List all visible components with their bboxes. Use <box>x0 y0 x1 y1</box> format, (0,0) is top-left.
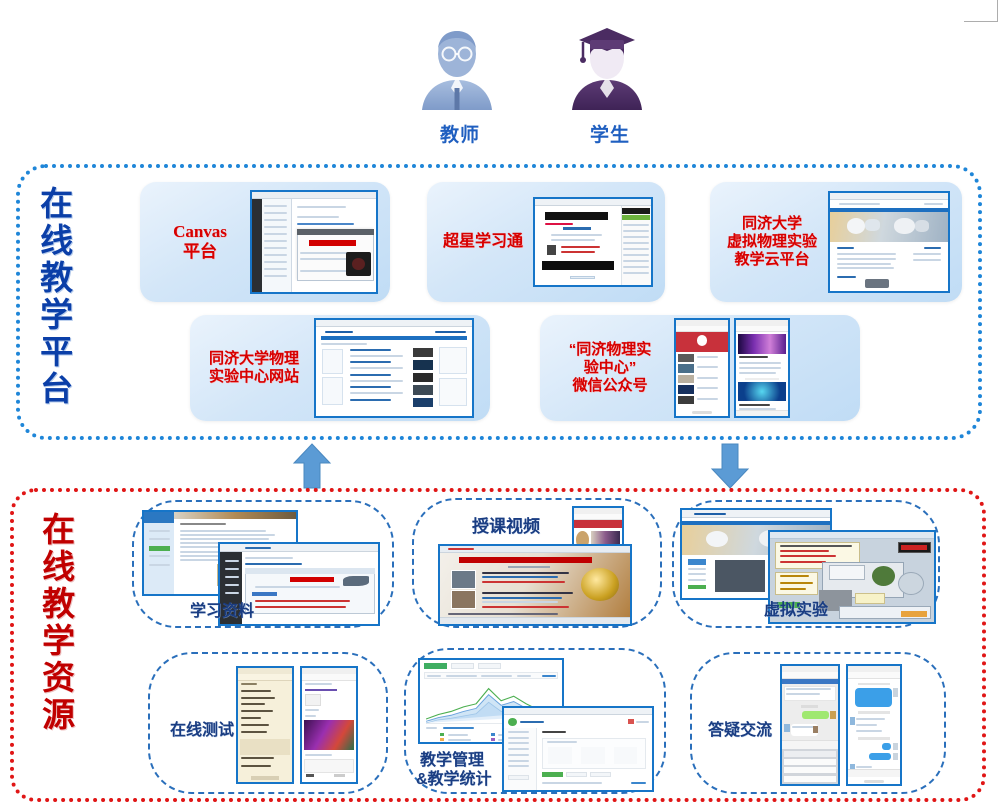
platform-card-center-site-title: 同济大学物理 实验中心网站 <box>202 350 306 385</box>
page-crop-mark <box>964 0 998 22</box>
student-avatar-icon <box>557 18 657 118</box>
section-platform-vertical-label: 在线教学平台 <box>36 186 71 408</box>
actor-teacher-label: 教师 <box>407 120 513 147</box>
teacher-avatar-icon <box>407 18 507 118</box>
wechat-official-account-phone-screenshots <box>674 318 790 418</box>
resource-group-qa-exchange-label: 答疑交流 <box>708 716 772 740</box>
resource-group-lecture-video-label: 授课视频 <box>472 512 540 537</box>
actors-row: 教师 学生 <box>399 18 671 150</box>
vr-cloud-platform-website-screenshot <box>828 191 950 293</box>
quiz-phone-screenshot-2 <box>300 666 358 784</box>
resource-group-virtual-lab-label: 虚拟实验 <box>764 596 828 620</box>
resource-group-virtual-lab[interactable]: 虚拟实验 <box>672 500 940 628</box>
platform-card-wechat-title: “同济物理实 验中心” 微信公众号 <box>552 341 668 394</box>
platform-card-canvas-title: Canvas 平台 <box>154 222 246 262</box>
arrow-down-icon <box>710 443 750 489</box>
platform-card-wechat[interactable]: “同济物理实 验中心” 微信公众号 <box>540 315 860 421</box>
resource-group-online-test[interactable]: 在线测试 <box>148 652 388 794</box>
resource-group-qa-exchange[interactable]: 答疑交流 <box>690 652 946 794</box>
resource-group-online-test-label: 在线测试 <box>170 716 234 740</box>
wechat-phone-article-screenshot <box>734 318 790 418</box>
quiz-phone-screenshot-1 <box>236 666 294 784</box>
hall-effect-lecture-slide-screenshot <box>438 544 632 626</box>
wechat-phone-list-screenshot <box>674 318 730 418</box>
platform-card-vr-cloud-title: 同济大学 虚拟物理实验 教学云平台 <box>718 215 826 268</box>
platform-card-vr-cloud[interactable]: 同济大学 虚拟物理实验 教学云平台 <box>710 182 962 302</box>
platform-card-center-site[interactable]: 同济大学物理 实验中心网站 <box>190 315 490 421</box>
actor-teacher: 教师 <box>407 18 513 150</box>
arrow-up-icon <box>292 443 332 489</box>
resource-group-teaching-management[interactable]: 教学管理 &教学统计 <box>404 648 666 794</box>
platform-card-chaoxing-title: 超星学习通 <box>435 233 531 252</box>
platform-card-canvas[interactable]: Canvas 平台 <box>140 182 390 302</box>
wechat-chat-phone-screenshot <box>780 664 840 786</box>
canvas-course-page-screenshot <box>250 190 378 294</box>
actor-student-label: 学生 <box>557 120 663 147</box>
qq-chat-phone-screenshot <box>846 664 902 786</box>
actor-student: 学生 <box>557 18 663 150</box>
platform-card-chaoxing[interactable]: 超星学习通 <box>427 182 665 302</box>
resource-group-study-material-label: 学习资料 <box>190 597 254 621</box>
resource-group-teaching-management-label-line2: &教学统计 <box>416 765 492 789</box>
resource-group-study-material[interactable]: 学习资料 <box>132 500 394 628</box>
chaoxing-learning-screenshot <box>533 197 653 287</box>
physics-center-website-screenshot <box>314 318 474 418</box>
resource-group-lecture-video[interactable]: 授课视频 <box>412 498 662 628</box>
admin-console-screenshot <box>502 706 654 792</box>
section-resource-vertical-label: 在线教学资源 <box>38 512 73 734</box>
